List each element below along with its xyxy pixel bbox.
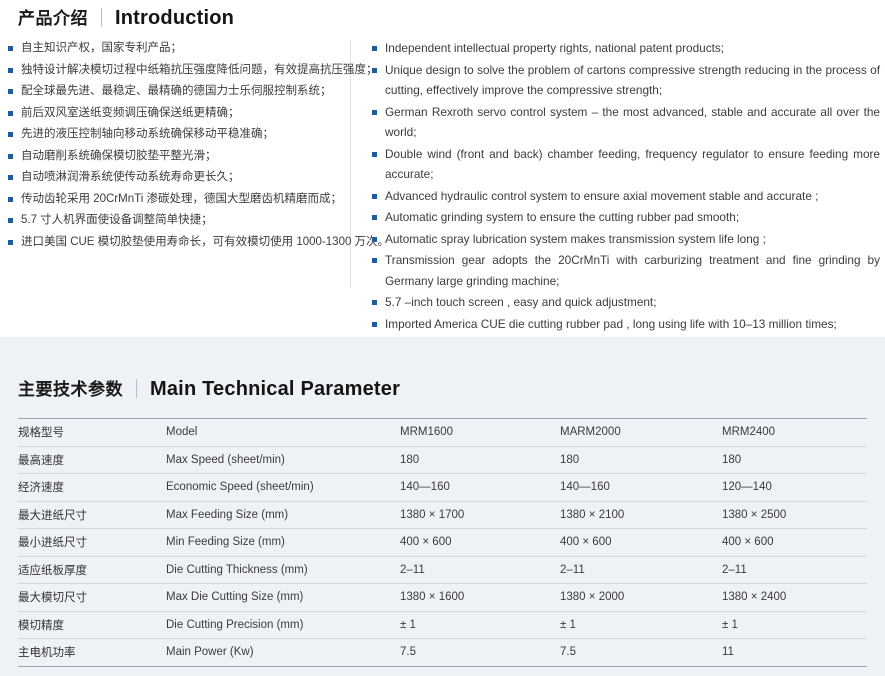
row-value-model-3: 120—140 [722, 474, 867, 502]
row-label-en: Max Die Cutting Size (mm) [166, 584, 400, 612]
row-value-model-3: 180 [722, 446, 867, 474]
row-value-model-3: MRM2400 [722, 419, 867, 447]
introduction-bullets-cn: 自主知识产权，国家专利产品； 独特设计解决模切过程中纸箱抗压强度降低问题，有效提… [8, 38, 348, 253]
row-label-en: Model [166, 419, 400, 447]
row-value-model-2: 400 × 600 [560, 529, 722, 557]
row-value-model-1: 1380 × 1600 [400, 584, 560, 612]
row-value-model-3: 2–11 [722, 556, 867, 584]
technical-parameter-section: 主要技术参数 Main Technical Parameter 规格型号 Mod… [0, 337, 885, 676]
table-row: 最高速度 Max Speed (sheet/min) 180 180 180 [18, 446, 867, 474]
table-row: 规格型号 Model MRM1600 MARM2000 MRM2400 [18, 419, 867, 447]
bullet-list-en: Independent intellectual property rights… [372, 38, 880, 334]
list-item: Imported America CUE die cutting rubber … [372, 314, 880, 335]
row-label-cn: 模切精度 [18, 611, 166, 639]
parameter-title-cn: 主要技术参数 [18, 375, 123, 400]
introduction-title-en: Introduction [115, 7, 234, 30]
row-value-model-3: ± 1 [722, 611, 867, 639]
row-label-cn: 规格型号 [18, 419, 166, 447]
introduction-section: 产品介绍 Introduction 自主知识产权，国家专利产品； 独特设计解决模… [0, 0, 885, 337]
spec-table-body: 规格型号 Model MRM1600 MARM2000 MRM2400 最高速度… [18, 419, 867, 667]
row-label-en: Max Speed (sheet/min) [166, 446, 400, 474]
table-row: 最小进纸尺寸 Min Feeding Size (mm) 400 × 600 4… [18, 529, 867, 557]
row-label-en: Main Power (Kw) [166, 639, 400, 667]
list-item: 独特设计解决模切过程中纸箱抗压强度降低问题，有效提高抗压强度； [8, 60, 348, 82]
introduction-title-cn: 产品介绍 [18, 4, 88, 29]
row-value-model-1: 2–11 [400, 556, 560, 584]
row-value-model-1: ± 1 [400, 611, 560, 639]
list-item: Advanced hydraulic control system to ens… [372, 186, 880, 207]
row-label-en: Max Feeding Size (mm) [166, 501, 400, 529]
list-item: 先进的液压控制轴向移动系统确保移动平稳准确； [8, 124, 348, 146]
row-value-model-1: 7.5 [400, 639, 560, 667]
table-row: 主电机功率 Main Power (Kw) 7.5 7.5 11 [18, 639, 867, 667]
list-item: German Rexroth servo control system – th… [372, 102, 880, 143]
row-label-cn: 适应纸板厚度 [18, 556, 166, 584]
table-row: 适应纸板厚度 Die Cutting Thickness (mm) 2–11 2… [18, 556, 867, 584]
row-label-en: Economic Speed (sheet/min) [166, 474, 400, 502]
list-item: Double wind (front and back) chamber fee… [372, 144, 880, 185]
row-value-model-2: 1380 × 2000 [560, 584, 722, 612]
list-item: 5.7 –inch touch screen , easy and quick … [372, 292, 880, 313]
parameter-heading: 主要技术参数 Main Technical Parameter [0, 375, 400, 401]
table-row: 最大模切尺寸 Max Die Cutting Size (mm) 1380 × … [18, 584, 867, 612]
row-value-model-1: 400 × 600 [400, 529, 560, 557]
spec-table: 规格型号 Model MRM1600 MARM2000 MRM2400 最高速度… [18, 418, 867, 667]
row-value-model-2: MARM2000 [560, 419, 722, 447]
list-item: Unique design to solve the problem of ca… [372, 60, 880, 101]
list-item: Automatic spray lubrication system makes… [372, 229, 880, 250]
row-label-en: Min Feeding Size (mm) [166, 529, 400, 557]
list-item: 进口美国 CUE 模切胶垫使用寿命长，可有效模切使用 1000-1300 万次。 [8, 232, 348, 254]
list-item: 自动喷淋润滑系统使传动系统寿命更长久； [8, 167, 348, 189]
row-value-model-2: 1380 × 2100 [560, 501, 722, 529]
introduction-heading: 产品介绍 Introduction [0, 4, 234, 30]
table-row: 模切精度 Die Cutting Precision (mm) ± 1 ± 1 … [18, 611, 867, 639]
list-item: Automatic grinding system to ensure the … [372, 207, 880, 228]
row-value-model-1: 180 [400, 446, 560, 474]
row-value-model-2: 2–11 [560, 556, 722, 584]
list-item: 自主知识产权，国家专利产品； [8, 38, 348, 60]
list-item: 传动齿轮采用 20CrMnTi 渗碳处理，德国大型磨齿机精磨而成； [8, 189, 348, 211]
row-label-en: Die Cutting Thickness (mm) [166, 556, 400, 584]
row-value-model-3: 1380 × 2500 [722, 501, 867, 529]
row-value-model-2: 180 [560, 446, 722, 474]
list-item: Transmission gear adopts the 20CrMnTi wi… [372, 250, 880, 291]
row-label-cn: 最大模切尺寸 [18, 584, 166, 612]
table-row: 经济速度 Economic Speed (sheet/min) 140—160 … [18, 474, 867, 502]
row-label-cn: 最高速度 [18, 446, 166, 474]
row-label-cn: 最大进纸尺寸 [18, 501, 166, 529]
row-value-model-1: MRM1600 [400, 419, 560, 447]
table-row: 最大进纸尺寸 Max Feeding Size (mm) 1380 × 1700… [18, 501, 867, 529]
heading-divider [136, 379, 137, 398]
row-value-model-2: ± 1 [560, 611, 722, 639]
row-value-model-2: 7.5 [560, 639, 722, 667]
row-value-model-3: 11 [722, 639, 867, 667]
list-item: 5.7 寸人机界面使设备调整简单快捷； [8, 210, 348, 232]
bullet-list-cn: 自主知识产权，国家专利产品； 独特设计解决模切过程中纸箱抗压强度降低问题，有效提… [8, 38, 348, 253]
row-value-model-2: 140—160 [560, 474, 722, 502]
row-label-cn: 最小进纸尺寸 [18, 529, 166, 557]
list-item: 自动磨削系统确保模切胶垫平整光滑； [8, 146, 348, 168]
list-item: 前后双风室送纸变频调压确保送纸更精确； [8, 103, 348, 125]
heading-divider [101, 8, 102, 27]
list-item: 配全球最先进、最稳定、最精确的德国力士乐伺服控制系统； [8, 81, 348, 103]
row-value-model-3: 1380 × 2400 [722, 584, 867, 612]
row-value-model-1: 1380 × 1700 [400, 501, 560, 529]
row-label-en: Die Cutting Precision (mm) [166, 611, 400, 639]
row-value-model-1: 140—160 [400, 474, 560, 502]
list-item: Independent intellectual property rights… [372, 38, 880, 59]
product-spec-page: 产品介绍 Introduction 自主知识产权，国家专利产品； 独特设计解决模… [0, 0, 885, 676]
row-value-model-3: 400 × 600 [722, 529, 867, 557]
parameter-title-en: Main Technical Parameter [150, 378, 400, 401]
introduction-bullets-en: Independent intellectual property rights… [372, 38, 880, 335]
row-label-cn: 经济速度 [18, 474, 166, 502]
row-label-cn: 主电机功率 [18, 639, 166, 667]
spec-table-container: 规格型号 Model MRM1600 MARM2000 MRM2400 最高速度… [18, 418, 867, 667]
